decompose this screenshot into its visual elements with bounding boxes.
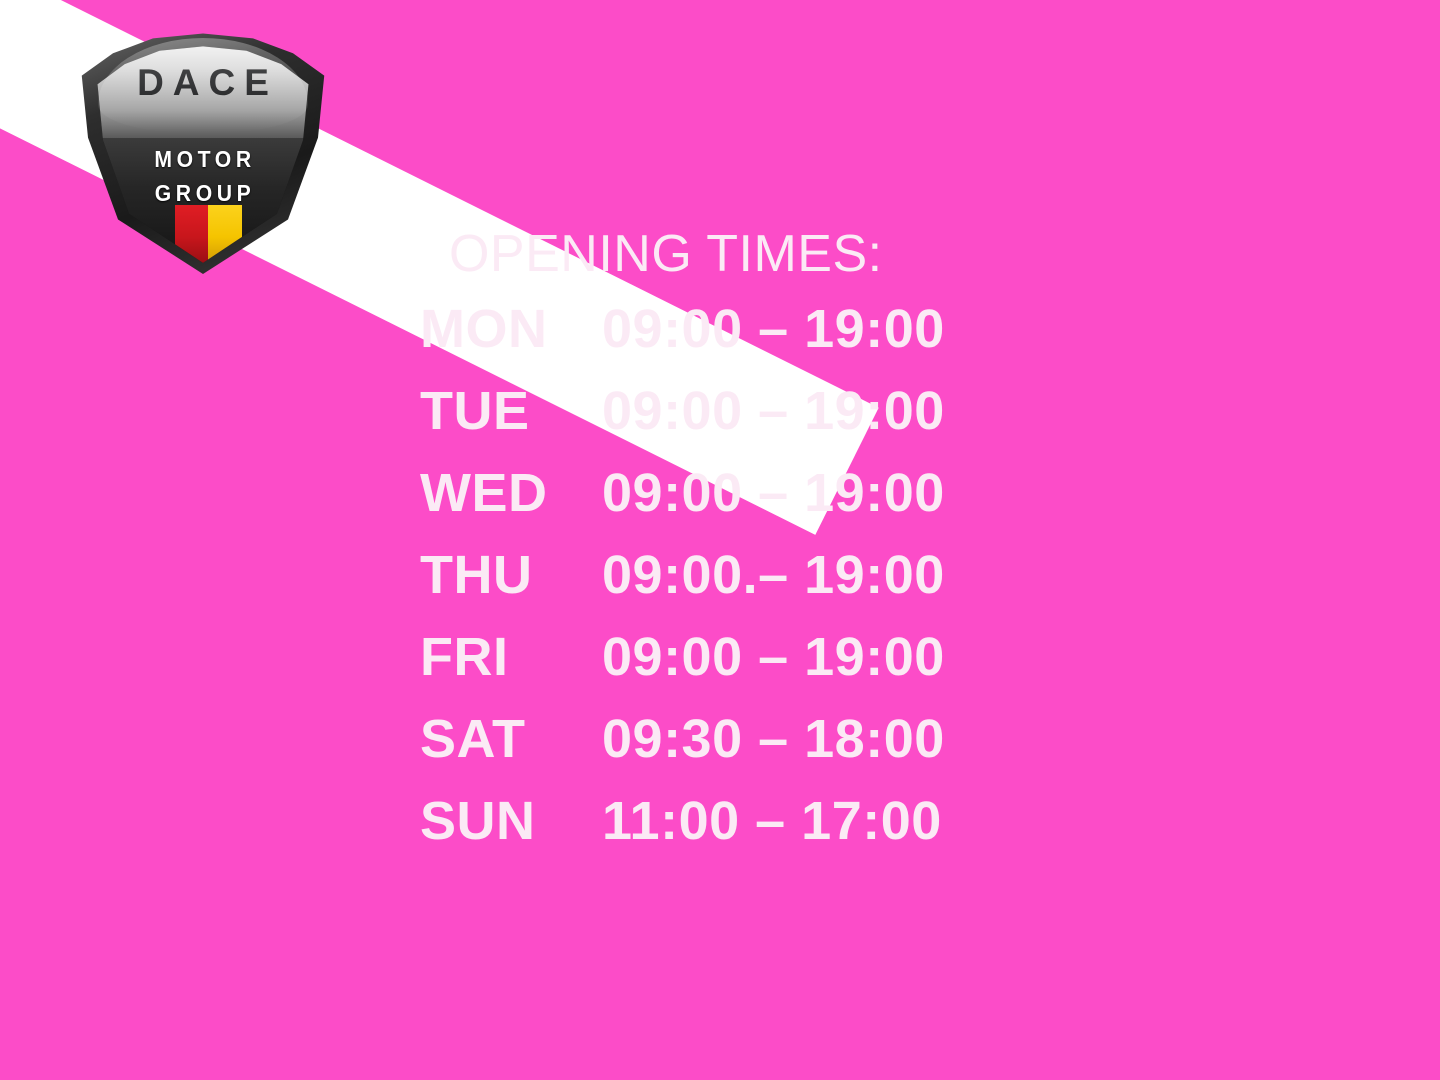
hours-value: 09:00 – 19:00 [602,302,1040,356]
day-label: SAT [420,712,602,766]
opening-times-row: WED 09:00 – 19:00 [420,466,1040,548]
opening-times-block: OPENING TIMES: MON 09:00 – 19:00 TUE 09:… [420,228,1040,876]
day-label: WED [420,466,602,520]
hours-value: 09:00 – 19:00 [602,630,1040,684]
day-label: MON [420,302,602,356]
opening-times-row: SAT 09:30 – 18:00 [420,712,1040,794]
hours-value: 09:00.– 19:00 [602,548,1040,602]
dace-motor-group-logo: DACE MOTOR GROUP [78,26,328,274]
shield-inner-face: DACE MOTOR GROUP [94,40,312,263]
opening-times-row: THU 09:00.– 19:00 [420,548,1040,630]
logo-brand-motor: MOTOR [103,146,303,173]
opening-times-row: MON 09:00 – 19:00 [420,302,1040,384]
opening-times-row: TUE 09:00 – 19:00 [420,384,1040,466]
day-label: THU [420,548,602,602]
opening-times-row: SUN 11:00 – 17:00 [420,794,1040,876]
day-label: SUN [420,794,602,848]
hours-value: 09:00 – 19:00 [602,384,1040,438]
opening-times-poster: DACE MOTOR GROUP OPENING TIMES: MON 09:0… [0,0,1440,1080]
opening-times-title: OPENING TIMES: [434,228,1040,280]
logo-brand-dace: DACE [94,62,312,104]
opening-times-row: FRI 09:00 – 19:00 [420,630,1040,712]
day-label: TUE [420,384,602,438]
hours-value: 11:00 – 17:00 [602,794,1040,848]
hours-value: 09:00 – 19:00 [602,466,1040,520]
hours-value: 09:30 – 18:00 [602,712,1040,766]
logo-brand-group: GROUP [103,180,303,207]
day-label: FRI [420,630,602,684]
